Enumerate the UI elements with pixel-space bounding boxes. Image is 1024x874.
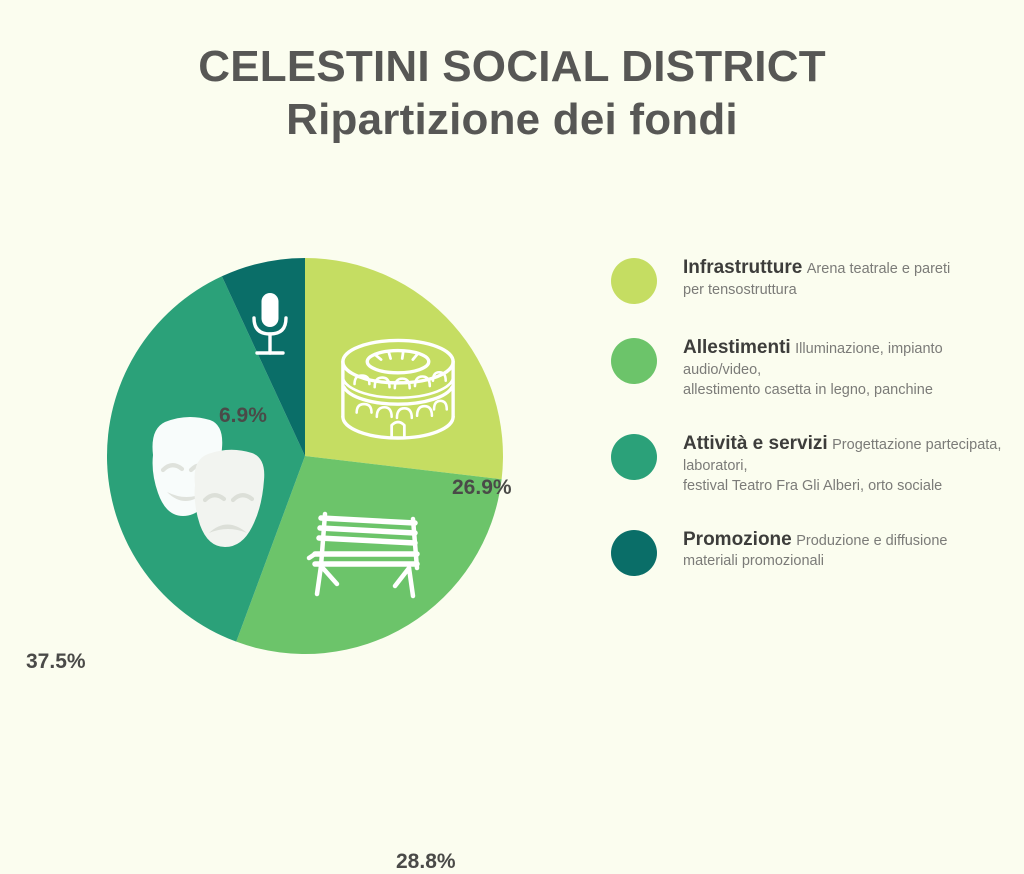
- title-line-primary: CELESTINI SOCIAL DISTRICT: [0, 44, 1024, 91]
- legend-item-attivita-e-servizi[interactable]: Attività e servizi Progettazione parteci…: [611, 432, 1011, 496]
- slice-percent-attivita-e-servizi: 37.5%: [26, 650, 86, 674]
- title-line-secondary: Ripartizione dei fondi: [0, 97, 1024, 144]
- legend-text-infrastrutture: Infrastrutture Arena teatrale e pareti p…: [683, 256, 950, 300]
- legend-item-promozione[interactable]: Promozione Produzione e diffusione mater…: [611, 528, 1011, 576]
- legend-title-attivita-e-servizi: Attività e servizi: [683, 433, 828, 454]
- legend-swatch-promozione: [611, 530, 657, 576]
- legend-title-infrastrutture: Infrastrutture: [683, 257, 802, 278]
- legend-text-attivita-e-servizi: Attività e servizi Progettazione parteci…: [683, 432, 1011, 496]
- legend-text-promozione: Promozione Produzione e diffusione mater…: [683, 528, 947, 572]
- slice-percent-infrastrutture: 26.9%: [452, 476, 512, 500]
- slice-percent-promozione: 6.9%: [219, 404, 267, 428]
- page-title: CELESTINI SOCIAL DISTRICT Ripartizione d…: [0, 44, 1024, 143]
- legend-swatch-attivita-e-servizi: [611, 434, 657, 480]
- slice-percent-allestimenti: 28.8%: [396, 850, 456, 874]
- legend-swatch-infrastrutture: [611, 258, 657, 304]
- infographic-canvas: CELESTINI SOCIAL DISTRICT Ripartizione d…: [0, 0, 1024, 768]
- legend-swatch-allestimenti: [611, 338, 657, 384]
- legend: Infrastrutture Arena teatrale e pareti p…: [611, 256, 1011, 576]
- legend-title-promozione: Promozione: [683, 529, 792, 550]
- legend-title-allestimenti: Allestimenti: [683, 337, 791, 358]
- legend-text-allestimenti: Allestimenti Illuminazione, impianto aud…: [683, 336, 1011, 400]
- pie-chart-svg: [0, 180, 560, 720]
- legend-item-allestimenti[interactable]: Allestimenti Illuminazione, impianto aud…: [611, 336, 1011, 400]
- pie-slice-infrastrutture[interactable]: [305, 258, 503, 479]
- legend-item-infrastrutture[interactable]: Infrastrutture Arena teatrale e pareti p…: [611, 256, 1011, 304]
- pie-chart: 26.9% 28.8% 37.5% 6.9%: [0, 180, 560, 720]
